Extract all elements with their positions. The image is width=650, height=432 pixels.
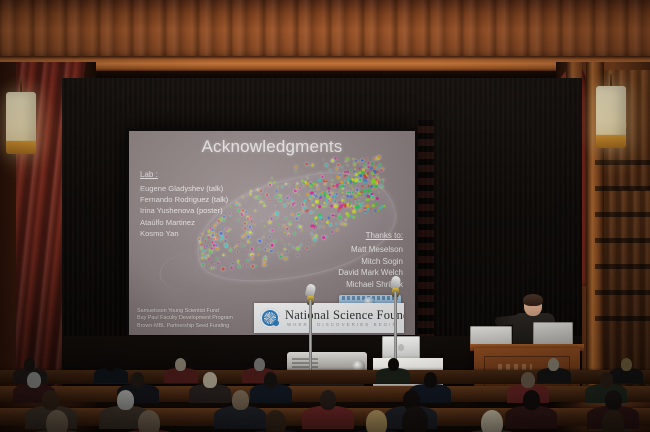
fluorescent-speckle <box>324 182 327 185</box>
fluorescent-speckle <box>273 240 276 243</box>
fluorescent-speckle <box>258 239 261 242</box>
fluorescent-speckle <box>201 244 203 246</box>
fluorescent-speckle <box>284 257 287 260</box>
fluorescent-speckle <box>298 195 300 197</box>
fluorescent-speckle <box>305 163 308 166</box>
fluorescent-speckle <box>311 199 313 201</box>
fluorescent-speckle <box>314 216 317 219</box>
lamp-brass-band <box>596 135 626 148</box>
fluorescent-speckle <box>222 240 223 241</box>
fluorescent-speckle <box>343 195 345 197</box>
fluorescent-speckle <box>362 199 364 201</box>
fluorescent-speckle <box>210 251 212 253</box>
fluorescent-speckle <box>250 254 252 256</box>
fluorescent-speckle <box>216 247 219 250</box>
list-item: Fernando Rodriguez (talk) <box>140 194 228 205</box>
fluorescent-speckle <box>313 238 316 241</box>
fluorescent-speckle <box>279 253 280 254</box>
fluorescent-speckle <box>206 245 207 246</box>
fluorescent-speckle <box>276 218 277 219</box>
fluorescent-speckle <box>201 257 203 259</box>
podium-laptop-right <box>533 322 573 346</box>
fluorescent-speckle <box>259 202 260 203</box>
list-item: Irina Yushenova (poster) <box>140 205 228 216</box>
fluorescent-speckle <box>240 235 242 237</box>
fluorescent-speckle <box>329 176 331 178</box>
fluorescent-speckle <box>300 170 302 172</box>
fluorescent-speckle <box>352 210 356 214</box>
fluorescent-speckle <box>282 208 283 209</box>
fluorescent-speckle <box>316 237 318 239</box>
fluorescent-speckle <box>246 221 248 223</box>
nsf-seal-core <box>273 320 279 326</box>
fluorescent-speckle <box>247 264 249 266</box>
fluorescent-speckle <box>219 240 221 242</box>
fluorescent-speckle <box>340 179 341 180</box>
fluorescent-speckle <box>296 247 299 250</box>
fluorescent-speckle <box>269 230 271 232</box>
fluorescent-speckle <box>230 216 232 218</box>
fluorescent-speckle <box>321 176 324 179</box>
fluorescent-speckle <box>301 179 303 181</box>
fluorescent-speckle <box>254 265 256 267</box>
fluorescent-speckle <box>374 210 376 212</box>
fluorescent-speckle <box>331 231 333 233</box>
nsf-logo: National Science Foundation WHERE DISCOV… <box>254 303 404 333</box>
fluorescent-speckle <box>352 188 353 189</box>
fluorescent-speckle <box>296 182 298 184</box>
fluorescent-speckle <box>258 196 261 199</box>
fluorescent-speckle <box>235 203 237 205</box>
fluorescent-speckle <box>230 266 233 269</box>
fluorescent-speckle <box>310 191 314 195</box>
fluorescent-speckle <box>381 181 383 183</box>
fluorescent-speckle <box>335 157 337 159</box>
fluorescent-speckle <box>281 203 282 204</box>
fluorescent-speckle <box>214 263 215 264</box>
fluorescent-speckle <box>266 259 267 260</box>
fluorescent-speckle <box>271 255 272 256</box>
list-item: Eugene Gladyshev (talk) <box>140 183 228 194</box>
fluorescent-speckle <box>361 159 364 162</box>
list-item: Mitch Sogin <box>338 256 403 268</box>
fluorescent-speckle <box>293 249 294 250</box>
fluorescent-speckle <box>379 179 380 180</box>
fluorescent-speckle <box>248 225 251 228</box>
pendant-lamp-left <box>6 78 36 154</box>
fluorescent-speckle <box>283 225 286 228</box>
fluorescent-speckle <box>353 163 356 166</box>
fluorescent-speckle <box>339 201 341 203</box>
fluorescent-speckle <box>294 192 296 194</box>
fluorescent-speckle <box>241 196 244 199</box>
fluorescent-speckle <box>289 203 291 205</box>
fluorescent-speckle <box>316 187 319 190</box>
fluorescent-speckle <box>212 251 214 253</box>
fluorescent-speckle <box>339 191 341 193</box>
fluorescent-speckle <box>343 223 346 226</box>
list-item: Kosmo Yan <box>140 228 228 239</box>
fluorescent-speckle <box>237 262 239 264</box>
fluorescent-speckle <box>331 192 333 194</box>
fluorescent-speckle <box>341 209 343 211</box>
fluorescent-speckle <box>204 240 206 242</box>
fluorescent-speckle <box>338 210 340 212</box>
fluorescent-speckle <box>377 165 380 168</box>
stage-curtain-right <box>418 120 434 360</box>
fluorescent-speckle <box>264 226 265 227</box>
fluorescent-speckle <box>347 164 349 166</box>
fluorescent-speckle <box>251 239 252 240</box>
fluorescent-speckle <box>295 217 298 220</box>
fluorescent-speckle <box>278 194 279 195</box>
fluorescent-speckle <box>359 197 361 199</box>
fluorescent-speckle <box>291 214 294 217</box>
fluorescent-speckle <box>257 254 259 256</box>
fluorescent-speckle <box>246 240 249 243</box>
fluorescent-speckle <box>328 198 332 202</box>
fluorescent-speckle <box>238 241 240 243</box>
pendant-lamp-right <box>596 74 626 148</box>
fluorescent-speckle <box>209 258 210 259</box>
fluorescent-speckle <box>365 158 367 160</box>
fluorescent-speckle <box>217 262 219 264</box>
fluorescent-speckle <box>297 190 298 191</box>
fluorescent-speckle <box>315 222 317 224</box>
fluorescent-speckle <box>350 184 351 185</box>
fluorescent-speckle <box>332 180 333 181</box>
fluorescent-speckle <box>299 187 301 189</box>
fluorescent-speckle <box>337 164 340 167</box>
fluorescent-speckle <box>284 217 286 219</box>
fluorescent-speckle <box>366 198 370 202</box>
fluorescent-speckle <box>310 211 313 214</box>
nsf-snowflake-seal-icon <box>260 308 280 328</box>
wood-plank-ceiling <box>0 0 650 62</box>
fluorescent-speckle <box>281 252 284 255</box>
fluorescent-speckle <box>306 247 309 250</box>
fluorescent-speckle <box>288 186 290 188</box>
lab-heading: Lab : <box>140 170 158 179</box>
audience-member-head <box>254 358 265 371</box>
fluorescent-speckle <box>278 223 279 224</box>
audience-member-head <box>175 358 186 371</box>
fluorescent-speckle <box>359 195 360 196</box>
audience-member-head <box>105 358 116 371</box>
fluorescent-speckle <box>327 187 331 191</box>
audience-member-head <box>424 372 437 388</box>
fluorescent-speckle <box>323 226 325 228</box>
fluorescent-speckle <box>228 245 230 247</box>
fluorescent-speckle <box>352 215 356 219</box>
fluorescent-speckle <box>349 195 353 199</box>
slide-title: Acknowledgments <box>129 137 415 157</box>
fluorescent-speckle <box>247 195 248 196</box>
fluorescent-speckle <box>370 162 373 165</box>
fluorescent-speckle <box>271 178 273 180</box>
fluorescent-speckle <box>241 244 244 247</box>
fluorescent-speckle <box>201 250 203 252</box>
fluorescent-speckle <box>224 240 226 242</box>
fluorescent-speckle <box>304 208 308 212</box>
presenter-hair <box>523 294 543 306</box>
fluorescent-speckle <box>246 231 249 234</box>
fluorescent-speckle <box>273 181 275 183</box>
fluorescent-speckle <box>219 260 220 261</box>
fluorescent-speckle <box>375 197 379 201</box>
fluorescent-speckle <box>270 250 273 253</box>
fluorescent-speckle <box>229 207 230 208</box>
fluorescent-speckle <box>345 218 348 221</box>
fluorescent-speckle <box>340 176 342 178</box>
fluorescent-speckle <box>251 257 254 260</box>
fluorescent-speckle <box>279 255 282 258</box>
fluorescent-speckle <box>309 245 310 246</box>
fluorescent-speckle <box>270 217 273 220</box>
fluorescent-speckle <box>350 185 351 186</box>
fluorescent-speckle <box>288 222 291 225</box>
audience-member-head <box>131 372 144 388</box>
fluorescent-speckle <box>329 223 332 226</box>
fluorescent-speckle <box>306 177 308 179</box>
fluorescent-speckle <box>359 167 361 169</box>
fluorescent-speckle <box>250 220 253 223</box>
fluorescent-speckle <box>378 191 380 193</box>
fluorescent-speckle <box>200 254 201 255</box>
fluorescent-speckle <box>275 190 278 193</box>
fluorescent-speckle <box>303 186 304 187</box>
fluorescent-speckle <box>354 178 359 183</box>
fluorescent-speckle <box>293 232 295 234</box>
fluorescent-speckle <box>236 251 238 253</box>
audience-member-head <box>203 372 216 388</box>
fluorescent-speckle <box>289 244 290 245</box>
fluorescent-speckle <box>280 194 282 196</box>
conference-hall-photo: Acknowledgments Lab : Eugene Gladyshev (… <box>0 0 650 432</box>
fluorescent-speckle <box>286 197 288 199</box>
lamp-shade <box>6 92 36 154</box>
audience-member-head <box>27 372 40 388</box>
fluorescent-speckle <box>325 163 328 166</box>
fluorescent-speckle <box>263 259 266 262</box>
fluorescent-speckle <box>318 205 321 208</box>
fluorescent-speckle <box>277 217 278 218</box>
fluorescent-speckle <box>268 197 269 198</box>
fluorescent-speckle <box>300 246 301 247</box>
fluorescent-speckle <box>277 186 278 187</box>
fluorescent-speckle <box>234 256 236 258</box>
funding-acknowledgment-list: Samuelsson Young Scientist Fund Bay Paul… <box>137 308 233 330</box>
fluorescent-speckle <box>268 202 270 204</box>
fluorescent-speckle <box>224 244 227 247</box>
fluorescent-speckle <box>244 227 246 229</box>
fluorescent-speckle <box>269 200 270 201</box>
audience-member-head <box>521 372 534 388</box>
fluorescent-speckle <box>319 225 322 228</box>
wood-lattice-right <box>595 160 650 340</box>
nsf-tagline: WHERE DISCOVERIES BEGIN <box>287 322 398 327</box>
fluorescent-speckle <box>237 219 239 221</box>
fluorescent-speckle <box>315 199 319 203</box>
fluorescent-speckle <box>244 265 246 267</box>
fluorescent-speckle <box>371 196 373 198</box>
fluorescent-speckle <box>263 263 266 266</box>
fluorescent-speckle <box>271 244 274 247</box>
fluorescent-speckle <box>260 220 261 221</box>
fluorescent-speckle <box>311 204 314 207</box>
fluorescent-speckle <box>309 166 310 167</box>
fluorescent-speckle <box>340 166 343 169</box>
fluorescent-speckle <box>252 231 253 232</box>
fluorescent-speckle <box>275 205 276 206</box>
fluorescent-speckle <box>348 175 350 177</box>
list-item: Brown-MBL Partnership Seed Funding <box>137 323 233 330</box>
fluorescent-speckle <box>286 251 288 253</box>
fluorescent-speckle <box>333 204 337 208</box>
fluorescent-speckle <box>216 257 219 260</box>
fluorescent-speckle <box>236 245 239 248</box>
fluorescent-speckle <box>237 259 240 262</box>
laptop-logo-icon <box>398 344 404 351</box>
fluorescent-speckle <box>204 245 206 247</box>
fluorescent-speckle <box>286 227 289 230</box>
fluorescent-speckle <box>347 178 350 181</box>
fluorescent-speckle <box>264 202 265 203</box>
fluorescent-speckle <box>313 244 314 245</box>
fluorescent-speckle <box>232 263 234 265</box>
fluorescent-speckle <box>257 247 260 250</box>
fluorescent-speckle <box>367 172 369 174</box>
fluorescent-speckle <box>325 235 328 238</box>
fluorescent-speckle <box>289 195 291 197</box>
fluorescent-speckle <box>263 236 265 238</box>
fluorescent-speckle <box>366 169 367 170</box>
fluorescent-speckle <box>328 175 329 176</box>
fluorescent-speckle <box>315 194 318 197</box>
fluorescent-speckle <box>322 159 323 160</box>
fluorescent-speckle <box>284 248 286 250</box>
fluorescent-speckle <box>257 188 259 190</box>
fluorescent-speckle <box>316 184 318 186</box>
lamp-cord-icon <box>20 78 22 92</box>
fluorescent-speckle <box>222 267 225 270</box>
fluorescent-speckle <box>371 203 375 207</box>
fluorescent-speckle <box>264 233 266 235</box>
fluorescent-speckle <box>227 256 228 257</box>
fluorescent-speckle <box>302 211 304 213</box>
presentation-slide: Acknowledgments Lab : Eugene Gladyshev (… <box>129 131 415 335</box>
fluorescent-speckle <box>234 209 235 210</box>
fluorescent-speckle <box>319 197 322 200</box>
audience-member-head <box>600 372 613 388</box>
fluorescent-speckle <box>299 198 300 199</box>
nsf-wordmark: National Science Foundation <box>285 308 404 323</box>
fluorescent-speckle <box>208 263 209 264</box>
fluorescent-speckle <box>279 229 281 231</box>
fluorescent-speckle <box>367 162 370 165</box>
fluorescent-speckle <box>281 186 283 188</box>
fluorescent-speckle <box>342 188 344 190</box>
fluorescent-speckle <box>260 190 262 192</box>
fluorescent-speckle <box>314 190 315 191</box>
fluorescent-speckle <box>317 178 321 182</box>
lab-member-list: Eugene Gladyshev (talk) Fernando Rodrigu… <box>140 183 228 239</box>
fluorescent-speckle <box>304 235 306 237</box>
fluorescent-speckle <box>297 213 300 216</box>
fluorescent-speckle <box>294 171 297 174</box>
fluorescent-speckle <box>374 185 378 189</box>
fluorescent-speckle <box>312 166 314 168</box>
fluorescent-speckle <box>296 254 299 257</box>
fluorescent-speckle <box>338 185 341 188</box>
fluorescent-speckle <box>271 229 273 231</box>
fluorescent-speckle <box>267 244 268 245</box>
fluorescent-speckle <box>250 216 252 218</box>
fluorescent-speckle <box>303 203 305 205</box>
lamp-cord-icon <box>610 74 612 86</box>
fluorescent-speckle <box>322 236 325 239</box>
fluorescent-speckle <box>217 267 219 269</box>
fluorescent-speckle <box>364 164 367 167</box>
fluorescent-speckle <box>299 226 302 229</box>
fluorescent-speckle <box>362 196 363 197</box>
lamp-shade <box>596 86 626 148</box>
fluorescent-speckle <box>329 168 332 171</box>
fluorescent-speckle <box>226 262 227 263</box>
fluorescent-speckle <box>238 209 241 212</box>
fluorescent-speckle <box>291 203 294 206</box>
fluorescent-speckle <box>279 238 280 239</box>
fluorescent-speckle <box>352 191 354 193</box>
fluorescent-speckle <box>234 247 235 248</box>
fluorescent-speckle <box>229 228 231 230</box>
ceiling-beam <box>0 56 650 72</box>
fluorescent-speckle <box>279 199 282 202</box>
fluorescent-speckle <box>327 216 330 219</box>
fluorescent-speckle <box>294 166 297 169</box>
fluorescent-speckle <box>380 169 383 172</box>
fluorescent-speckle <box>344 174 347 177</box>
fluorescent-speckle <box>358 209 361 212</box>
fluorescent-speckle <box>215 244 218 247</box>
fluorescent-speckle <box>265 243 267 245</box>
fluorescent-speckle <box>239 266 241 268</box>
fluorescent-speckle <box>254 224 255 225</box>
audience-member-head <box>548 358 559 371</box>
fluorescent-speckle <box>289 183 290 184</box>
fluorescent-speckle <box>313 211 315 213</box>
fluorescent-speckle <box>307 229 308 230</box>
fluorescent-speckle <box>335 222 338 225</box>
fluorescent-speckle <box>307 190 308 191</box>
fluorescent-speckle <box>199 241 201 243</box>
list-item: Ataúlfo Martinez <box>140 217 228 228</box>
fluorescent-speckle <box>266 186 267 187</box>
fluorescent-speckle <box>245 200 246 201</box>
list-item: Bay Paul Faculty Development Program <box>137 315 233 322</box>
fluorescent-speckle <box>377 209 379 211</box>
fluorescent-speckle <box>244 210 247 213</box>
fluorescent-speckle <box>267 249 270 252</box>
thanks-heading: Thanks to: <box>366 231 403 240</box>
fluorescent-speckle <box>309 207 311 209</box>
fluorescent-speckle <box>302 230 303 231</box>
fluorescent-speckle <box>355 160 357 162</box>
fluorescent-speckle <box>269 184 271 186</box>
fluorescent-speckle <box>341 191 343 193</box>
fluorescent-speckle <box>361 185 363 187</box>
fluorescent-speckle <box>336 228 339 231</box>
